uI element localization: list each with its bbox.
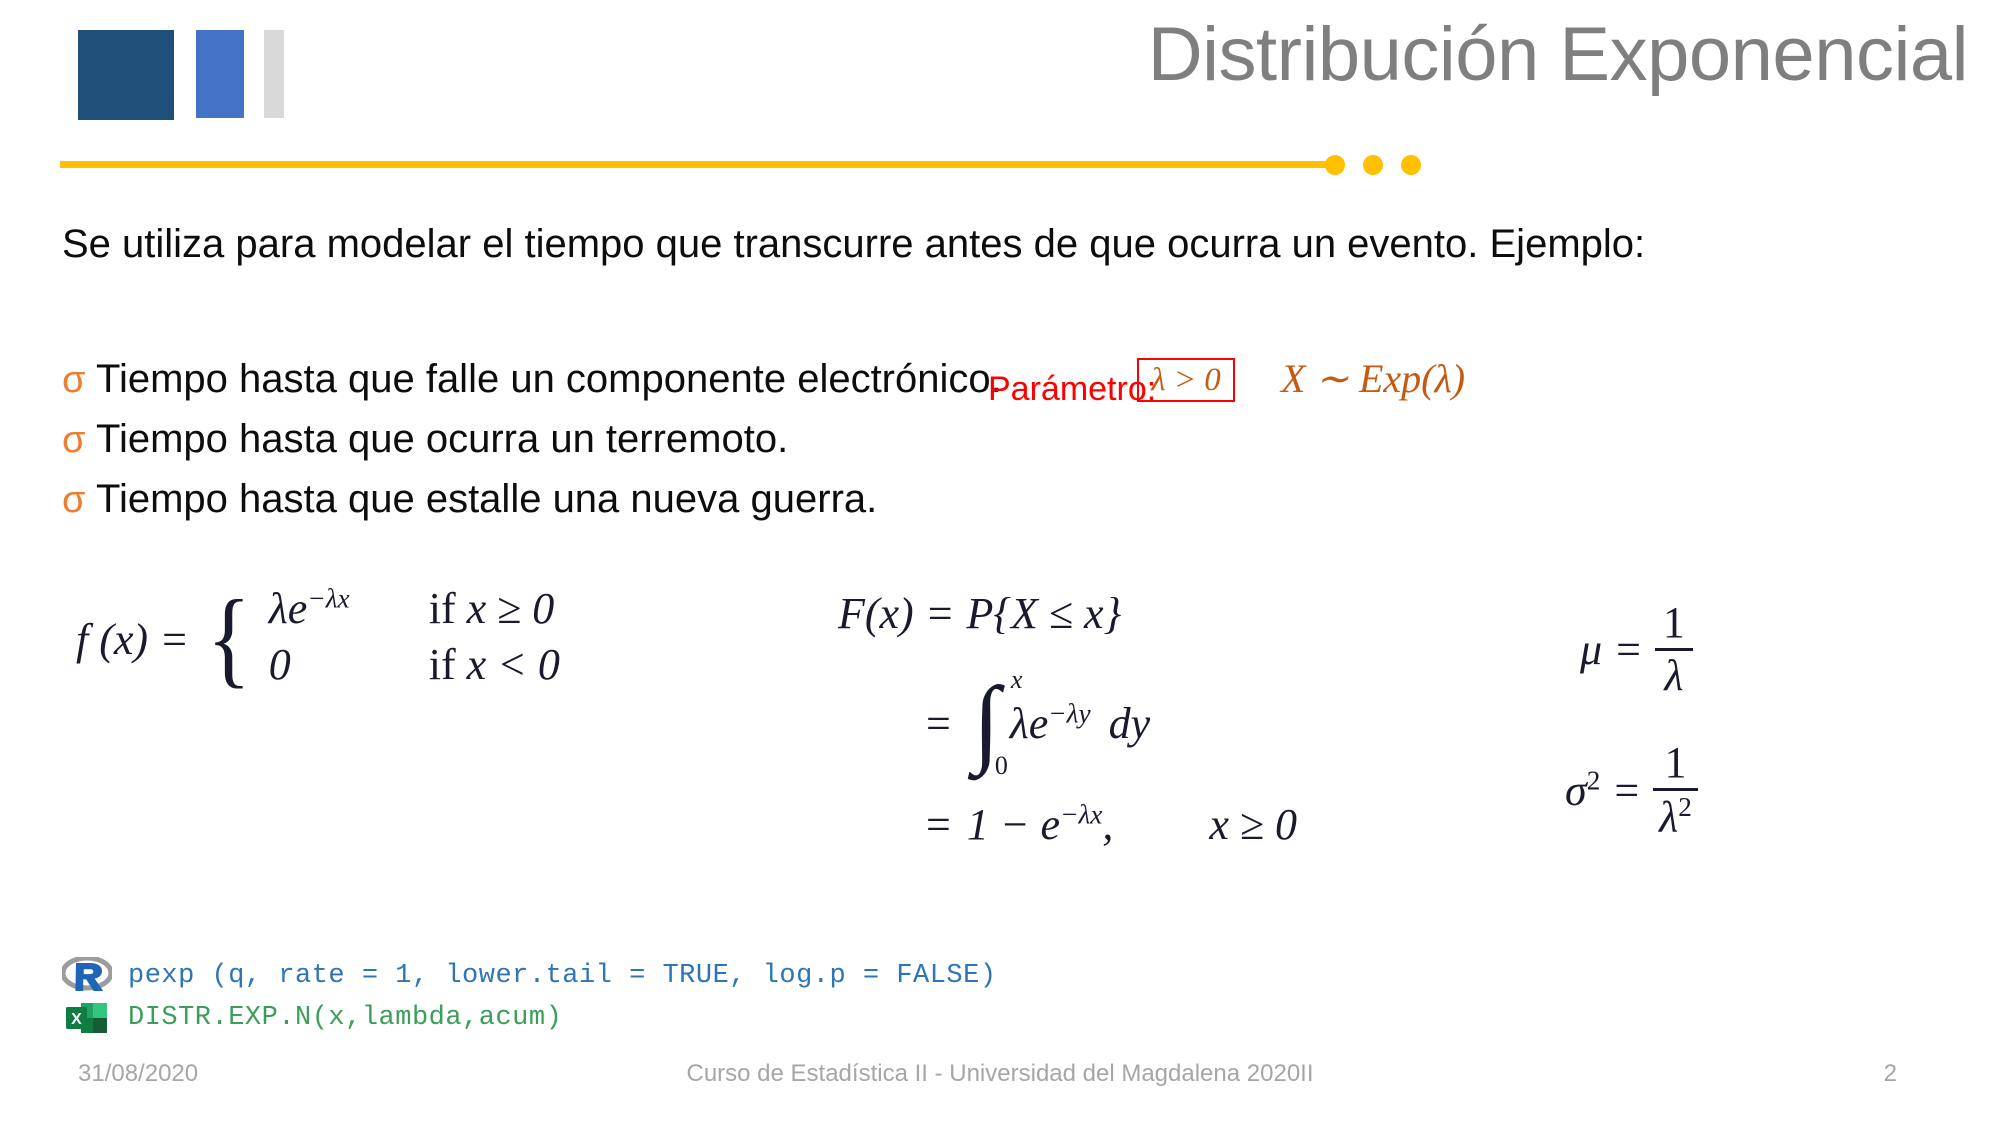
parameter-expression: λ > 0 xyxy=(1151,362,1221,399)
cdf-line-definition: F(x) = P{X ≤ x} xyxy=(838,588,1297,639)
list-item-label: Tiempo hasta que ocurra un terremoto. xyxy=(96,417,788,462)
variance-formula: σ2 = 1 λ2 xyxy=(1565,740,1698,841)
brand-logo xyxy=(78,30,284,120)
header-divider-rule xyxy=(60,161,1330,168)
pdf-cases: λe−λx if x ≥ 0 0 if x < 0 xyxy=(269,583,560,695)
parameter-value-box: λ > 0 xyxy=(1137,358,1235,402)
header-dot-icon xyxy=(1325,155,1345,175)
footer-course-label: Curso de Estadística II - Universidad de… xyxy=(0,1060,2000,1088)
logo-bar-gray-icon xyxy=(264,30,284,118)
footer-page-number: 2 xyxy=(1884,1060,1897,1088)
sigma-bullet-icon: σ xyxy=(62,359,96,402)
variance-fraction: 1 λ2 xyxy=(1653,740,1698,841)
code-snippets: pexp (q, rate = 1, lower.tail = TRUE, lo… xyxy=(62,955,997,1039)
cdf-probability-expression: P{X ≤ x} xyxy=(967,588,1122,639)
cdf-equals: = xyxy=(926,799,951,850)
sigma-bullet-icon: σ xyxy=(62,479,96,522)
variance-equals: = xyxy=(1614,765,1639,816)
mean-fraction: 1 λ xyxy=(1655,600,1693,699)
cdf-equals: = xyxy=(928,588,953,639)
logo-square-blue-icon xyxy=(196,30,244,118)
pdf-case-row: λe−λx if x ≥ 0 xyxy=(269,583,560,639)
cdf-line-result: = 1 − e−λx, x ≥ 0 xyxy=(926,799,1297,850)
r-logo-icon xyxy=(62,957,112,995)
list-item-label: Tiempo hasta que falle un componente ele… xyxy=(96,357,1002,402)
excel-code-text: DISTR.EXP.N(x,lambda,acum) xyxy=(128,1003,562,1033)
parameter-label: Parámetro: xyxy=(988,370,1156,409)
integrand: λe−λy xyxy=(1010,698,1091,749)
header-dot-icon xyxy=(1401,155,1421,175)
logo-square-dark-icon xyxy=(78,30,174,120)
differential: dy xyxy=(1109,698,1151,749)
cdf-line-integral: = x ∫ 0 λe−λy dy xyxy=(926,669,1297,777)
mean-denominator: λ xyxy=(1658,651,1689,699)
sigma-bullet-icon: σ xyxy=(62,419,96,462)
cdf-equals: = xyxy=(926,698,951,749)
pdf-case-value: λe−λx xyxy=(269,583,429,634)
integral-icon: x ∫ 0 xyxy=(973,669,1000,777)
header-dot-icon xyxy=(1363,155,1383,175)
pdf-case-condition: if x < 0 xyxy=(429,639,560,690)
integral-lower-limit: 0 xyxy=(995,751,1008,781)
cdf-domain-condition: x ≥ 0 xyxy=(1209,799,1297,850)
cdf-result-expression: 1 − e−λx, xyxy=(967,799,1114,850)
mean-numerator: 1 xyxy=(1657,600,1691,648)
excel-logo-icon: X xyxy=(62,999,112,1037)
r-code-text: pexp (q, rate = 1, lower.tail = TRUE, lo… xyxy=(128,961,997,991)
integral-upper-limit: x xyxy=(1011,665,1023,695)
list-item-label: Tiempo hasta que estalle una nueva guerr… xyxy=(96,477,877,522)
pdf-case-row: 0 if x < 0 xyxy=(269,639,560,695)
intro-paragraph: Se utiliza para modelar el tiempo que tr… xyxy=(62,222,1645,267)
list-item: σ Tiempo hasta que estalle una nueva gue… xyxy=(62,477,1002,525)
code-row-excel: X DISTR.EXP.N(x,lambda,acum) xyxy=(62,997,997,1039)
distribution-notation: X ∼ Exp(λ) xyxy=(1281,355,1465,402)
cdf-formula: F(x) = P{X ≤ x} = x ∫ 0 λe−λy dy = 1 − e… xyxy=(838,588,1297,850)
pdf-formula: f (x) = { λe−λx if x ≥ 0 0 if x < 0 xyxy=(76,583,560,695)
slide-footer: 31/08/2020 Curso de Estadística II - Uni… xyxy=(0,1060,2000,1100)
mean-formula: μ = 1 λ xyxy=(1580,600,1693,699)
svg-text:X: X xyxy=(71,1011,82,1028)
pdf-equals: = xyxy=(162,614,187,665)
mean-equals: = xyxy=(1616,624,1641,675)
list-item: σ Tiempo hasta que falle un componente e… xyxy=(62,357,1002,405)
example-bullet-list: σ Tiempo hasta que falle un componente e… xyxy=(62,357,1002,537)
variance-denominator: λ2 xyxy=(1653,791,1698,841)
page-title: Distribución Exponencial xyxy=(1148,17,1968,93)
piecewise-brace-icon: { xyxy=(207,596,251,682)
variance-numerator: 1 xyxy=(1659,740,1693,788)
mean-symbol: μ xyxy=(1580,624,1602,675)
pdf-lhs: f (x) xyxy=(76,614,148,665)
list-item: σ Tiempo hasta que ocurra un terremoto. xyxy=(62,417,1002,465)
pdf-case-condition: if x ≥ 0 xyxy=(429,583,555,634)
cdf-lhs: F(x) xyxy=(838,588,914,639)
pdf-case-value: 0 xyxy=(269,639,429,690)
code-row-r: pexp (q, rate = 1, lower.tail = TRUE, lo… xyxy=(62,955,997,997)
integral-glyph: ∫ xyxy=(973,686,1000,760)
variance-symbol: σ2 xyxy=(1565,765,1600,816)
